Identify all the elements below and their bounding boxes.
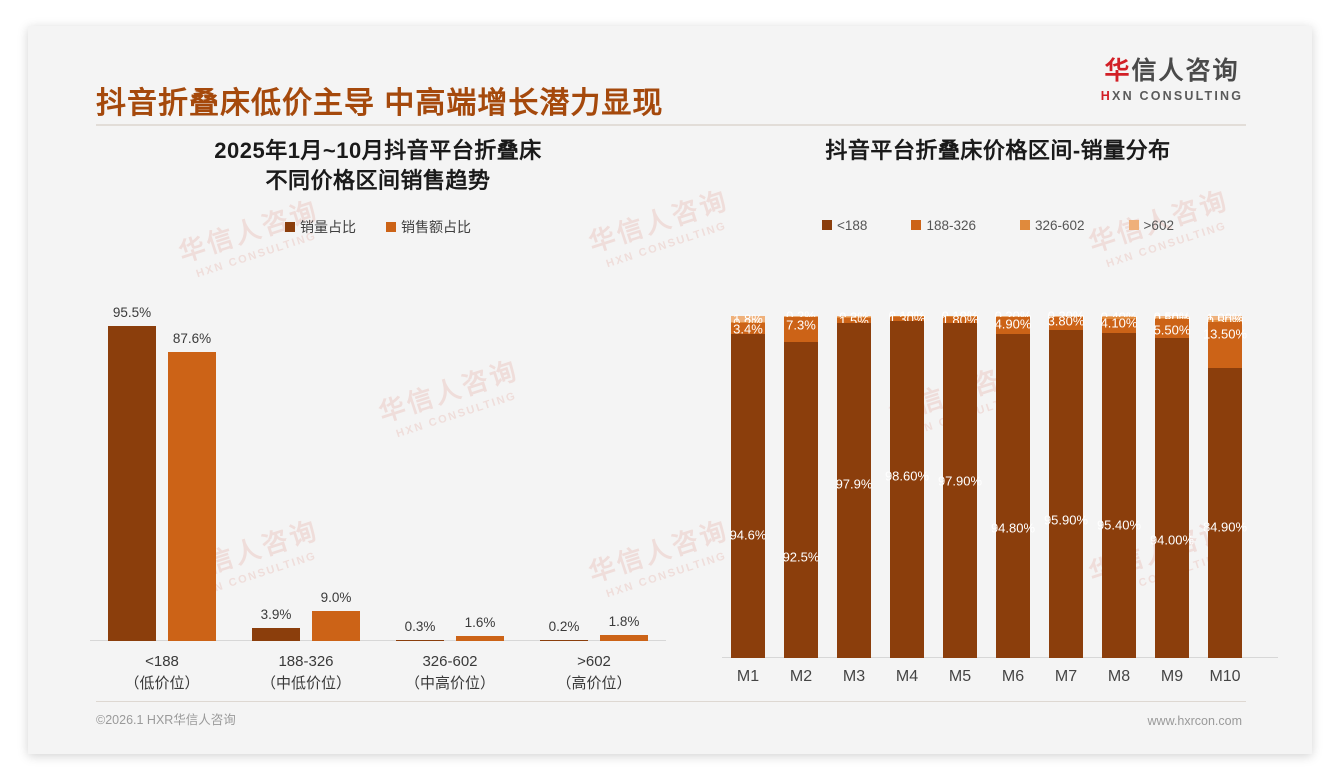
segment-value-label: 94.00%	[1150, 532, 1194, 547]
stacked-bar-plot: 1.8% 0.2% 3.4% 94.6% M1 0.2% 7.3% 92.5%	[722, 316, 1278, 658]
bar-value-label: 0.2%	[549, 619, 580, 634]
stacked-bar-column[interactable]: 0.3% 1.5% 97.9%	[837, 316, 871, 658]
legend-item-under-188[interactable]: <188	[822, 218, 867, 233]
footer-copyright: ©2026.1 HXR华信人咨询	[96, 709, 236, 728]
bar-value-label: 87.6%	[173, 331, 211, 346]
segment-188-326[interactable]: 4.10%	[1102, 319, 1136, 333]
x-axis-category: <188 （低价位）	[82, 651, 242, 695]
legend-label: >602	[1144, 218, 1174, 233]
bar-column[interactable]: 87.6%	[168, 311, 216, 641]
bar-volume[interactable]	[540, 640, 588, 641]
legend-swatch-icon	[1129, 220, 1139, 230]
x-axis-category-sub: （中高价位）	[370, 673, 530, 695]
slide-header: 抖音折叠床低价主导 中高端增长潜力显现 华信人咨询 HXN CONSULTING	[28, 26, 1312, 118]
bar-volume[interactable]	[108, 326, 156, 641]
title-divider	[96, 124, 1246, 126]
stacked-bar-column[interactable]: 1.8% 0.2% 3.4% 94.6%	[731, 316, 765, 658]
grouped-bar-plot: 95.5% 87.6% <188 （低价位） 3.9% 9.0	[90, 311, 666, 641]
bar-volume[interactable]	[252, 628, 300, 641]
x-axis-category-main: 188-326	[226, 651, 386, 673]
segment-value-label: 84.90%	[1203, 520, 1247, 535]
stacked-bar-column[interactable]: 0.40% 4.10% 95.40%	[1102, 316, 1136, 658]
bar-column[interactable]: 9.0%	[312, 311, 360, 641]
legend-swatch-icon	[822, 220, 832, 230]
bar-value-label: 95.5%	[113, 305, 151, 320]
logo-en-h: H	[1101, 89, 1112, 103]
segment-value-label: 4.10%	[1101, 316, 1138, 331]
stacked-bar-column[interactable]: 0.20% 4.90% 94.80%	[996, 316, 1030, 658]
segment-under-188[interactable]: 92.5%	[784, 342, 818, 658]
x-axis-month-label: M8	[1089, 668, 1149, 686]
bar-group: 3.9% 9.0%	[234, 311, 378, 641]
segment-188-326[interactable]: 5.50%	[1155, 319, 1189, 338]
bar-amount[interactable]	[312, 611, 360, 641]
x-axis-category-sub: （中低价位）	[226, 673, 386, 695]
legend-item-over-602[interactable]: >602	[1129, 218, 1174, 233]
bar-group: 0.3% 1.6%	[378, 311, 522, 641]
chart-title-right: 抖音平台折叠床价格区间-销量分布	[708, 136, 1288, 166]
stacked-bar-column[interactable]: 0.10% 1.80% 97.90%	[943, 316, 977, 658]
stacked-bar-column[interactable]: 0.10% 1.30% 98.60%	[890, 316, 924, 658]
chart-legend-left: 销量占比 销售额占比	[68, 217, 688, 237]
segment-value-label: 95.40%	[1097, 517, 1141, 532]
bar-value-label: 3.9%	[261, 607, 292, 622]
segment-under-188[interactable]: 94.00%	[1155, 338, 1189, 658]
segment-188-326[interactable]: 7.3%	[784, 317, 818, 342]
segment-value-label: 94.80%	[991, 521, 1035, 536]
bar-column[interactable]: 0.2%	[540, 311, 588, 641]
segment-under-188[interactable]: 95.40%	[1102, 333, 1136, 658]
x-axis-month-label: M5	[930, 668, 990, 686]
legend-label: <188	[837, 218, 867, 233]
segment-under-188[interactable]: 94.80%	[996, 334, 1030, 658]
stacked-bar-column[interactable]: 0.50% 0.50% 5.50% 94.00%	[1155, 316, 1189, 658]
x-axis-category-main: <188	[82, 651, 242, 673]
chart-title-left-line2: 不同价格区间销售趋势	[68, 166, 688, 196]
x-axis-category: 326-602 （中高价位）	[370, 651, 530, 695]
segment-value-label: 4.90%	[995, 316, 1032, 331]
x-axis-month-label: M6	[983, 668, 1043, 686]
chart-title-left-line1: 2025年1月~10月抖音平台折叠床	[68, 136, 688, 166]
segment-value-label: 92.5%	[783, 549, 820, 564]
legend-item-sales-volume[interactable]: 销量占比	[285, 217, 356, 237]
bar-group: 0.2% 1.8%	[522, 311, 666, 641]
chart-panel-right: 抖音平台折叠床价格区间-销量分布 <188 188-326 326-602 >6…	[708, 136, 1288, 706]
x-axis-category-sub: （高价位）	[514, 673, 674, 695]
segment-value-label: 5.50%	[1154, 323, 1191, 338]
stacked-bar-column[interactable]: 1.00% 0.50% 13.50% 84.90%	[1208, 316, 1242, 658]
company-logo: 华信人咨询 HXN CONSULTING	[1072, 58, 1272, 103]
segment-value-label: 97.9%	[836, 476, 873, 491]
segment-value-label: 98.60%	[885, 469, 929, 484]
bar-value-label: 1.8%	[609, 614, 640, 629]
bar-column[interactable]: 0.3%	[396, 311, 444, 641]
segment-value-label: 3.80%	[1048, 314, 1085, 329]
stacked-bar-column[interactable]: 0.2% 7.3% 92.5%	[784, 316, 818, 658]
legend-swatch-icon	[285, 222, 295, 232]
x-axis-category-sub: （低价位）	[82, 673, 242, 695]
segment-under-188[interactable]: 95.90%	[1049, 330, 1083, 658]
logo-en-rest: XN CONSULTING	[1112, 89, 1243, 103]
legend-item-188-326[interactable]: 188-326	[911, 218, 976, 233]
page-title: 抖音折叠床低价主导 中高端增长潜力显现	[96, 78, 663, 122]
segment-188-326[interactable]: 3.80%	[1049, 317, 1083, 330]
x-axis-category: >602 （高价位）	[514, 651, 674, 695]
segment-value-label: 94.6%	[730, 528, 767, 543]
legend-label: 销售额占比	[401, 217, 471, 237]
logo-chars-rest: 信人咨询	[1132, 57, 1240, 85]
segment-188-326[interactable]: 13.50%	[1208, 322, 1242, 368]
segment-under-188[interactable]: 94.6%	[731, 334, 765, 658]
bar-group: 95.5% 87.6%	[90, 311, 234, 641]
slide-canvas: 抖音折叠床低价主导 中高端增长潜力显现 华信人咨询 HXN CONSULTING…	[28, 26, 1312, 754]
segment-value-label: 97.90%	[938, 473, 982, 488]
bar-column[interactable]: 95.5%	[108, 311, 156, 641]
bar-amount[interactable]	[168, 352, 216, 641]
chart-title-left: 2025年1月~10月抖音平台折叠床 不同价格区间销售趋势	[68, 136, 688, 195]
chart-panel-left: 2025年1月~10月抖音平台折叠床 不同价格区间销售趋势 销量占比 销售额占比…	[68, 136, 688, 706]
segment-under-188[interactable]: 84.90%	[1208, 368, 1242, 658]
x-axis-month-label: M4	[877, 668, 937, 686]
x-axis-category-main: 326-602	[370, 651, 530, 673]
x-axis-month-label: M2	[771, 668, 831, 686]
segment-under-188[interactable]: 97.9%	[837, 323, 871, 658]
bar-value-label: 0.3%	[405, 619, 436, 634]
segment-188-326[interactable]: 4.90%	[996, 317, 1030, 334]
bar-column[interactable]: 1.6%	[456, 311, 504, 641]
legend-item-326-602[interactable]: 326-602	[1020, 218, 1085, 233]
bar-column[interactable]: 3.9%	[252, 311, 300, 641]
legend-swatch-icon	[1020, 220, 1030, 230]
footer-website[interactable]: www.hxrcon.com	[1148, 714, 1242, 728]
logo-chinese-text: 华信人咨询	[1072, 58, 1272, 86]
footer-divider	[96, 701, 1246, 702]
logo-char-hua: 华	[1104, 57, 1131, 85]
x-axis-category-main: >602	[514, 651, 674, 673]
x-axis-month-label: M10	[1195, 668, 1255, 686]
bar-column[interactable]: 1.8%	[600, 311, 648, 641]
legend-label: 188-326	[926, 218, 976, 233]
x-axis-category: 188-326 （中低价位）	[226, 651, 386, 695]
bar-amount[interactable]	[600, 635, 648, 641]
logo-english-text: HXN CONSULTING	[1072, 89, 1272, 103]
chart-legend-right: <188 188-326 326-602 >602	[708, 218, 1288, 233]
segment-under-188[interactable]: 98.60%	[890, 321, 924, 658]
segment-value-label: 13.50%	[1203, 326, 1247, 341]
x-axis-month-label: M7	[1036, 668, 1096, 686]
x-axis-month-label: M9	[1142, 668, 1202, 686]
legend-label: 326-602	[1035, 218, 1085, 233]
x-axis-month-label: M3	[824, 668, 884, 686]
stacked-bar-column[interactable]: 0.20% 3.80% 95.90%	[1049, 316, 1083, 658]
segment-value-label: 95.90%	[1044, 513, 1088, 528]
legend-label: 销量占比	[300, 217, 356, 237]
bar-value-label: 9.0%	[321, 590, 352, 605]
legend-swatch-icon	[386, 222, 396, 232]
legend-swatch-icon	[911, 220, 921, 230]
x-axis-month-label: M1	[718, 668, 778, 686]
segment-188-326[interactable]: 3.4%	[731, 323, 765, 335]
segment-under-188[interactable]: 97.90%	[943, 323, 977, 658]
legend-item-sales-amount[interactable]: 销售额占比	[386, 217, 471, 237]
bar-amount[interactable]	[456, 636, 504, 641]
bar-value-label: 1.6%	[465, 615, 496, 630]
bar-volume[interactable]	[396, 640, 444, 641]
segment-value-label: 7.3%	[786, 318, 816, 333]
